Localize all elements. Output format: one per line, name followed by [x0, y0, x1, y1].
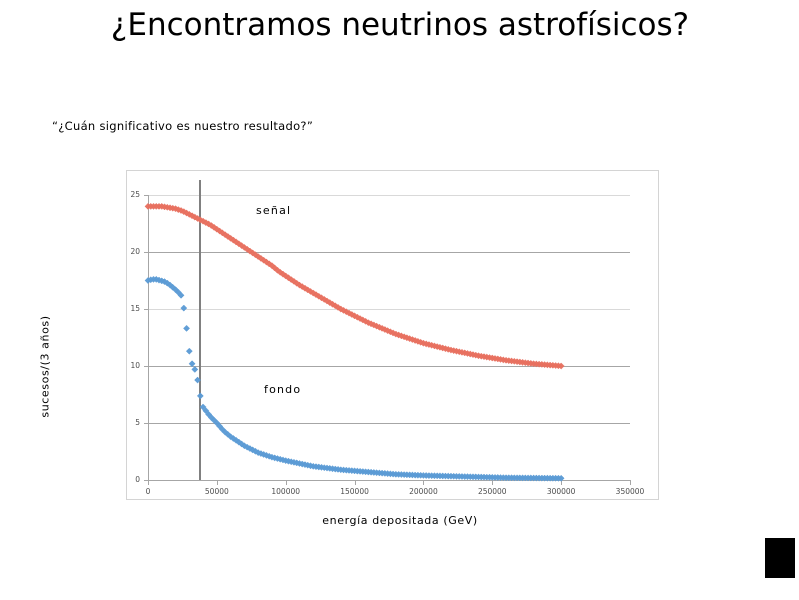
x-tick-label: 100000 [256, 487, 316, 496]
x-tick-250000 [492, 480, 493, 485]
y-tick-20 [144, 252, 149, 253]
x-tick-300000 [561, 480, 562, 485]
gridline-y-0 [148, 480, 630, 481]
footer-black-block [765, 538, 795, 578]
y-tick-label: 0 [118, 475, 140, 484]
x-tick-100000 [286, 480, 287, 485]
x-tick-label: 0 [118, 487, 178, 496]
y-tick-5 [144, 423, 149, 424]
gridline-y-20 [148, 252, 630, 253]
x-tick-200000 [423, 480, 424, 485]
y-tick-25 [144, 195, 149, 196]
x-tick-350000 [630, 480, 631, 485]
x-tick-label: 200000 [393, 487, 453, 496]
x-tick-50000 [217, 480, 218, 485]
threshold-vertical-line [199, 180, 201, 480]
y-tick-10 [144, 366, 149, 367]
y-tick-label: 10 [118, 361, 140, 370]
x-tick-label: 50000 [187, 487, 247, 496]
y-tick-label: 15 [118, 304, 140, 313]
x-tick-label: 350000 [600, 487, 660, 496]
y-axis-title: sucesos/(3 años) [39, 297, 52, 437]
gridline-y-10 [148, 366, 630, 367]
x-tick-150000 [355, 480, 356, 485]
y-tick-label: 20 [118, 247, 140, 256]
series-label-senal: señal [256, 204, 291, 217]
y-axis-line [148, 195, 149, 480]
y-tick-label: 25 [118, 190, 140, 199]
page-title: ¿Encontramos neutrinos astrofísicos? [100, 6, 700, 44]
gridline-y-5 [148, 423, 630, 424]
y-tick-label: 5 [118, 418, 140, 427]
slide-canvas: ¿Encontramos neutrinos astrofísicos? “¿C… [0, 0, 799, 600]
x-tick-label: 150000 [325, 487, 385, 496]
x-tick-label: 300000 [531, 487, 591, 496]
subtitle-quote: “¿Cuán significativo es nuestro resultad… [52, 119, 313, 133]
chart-frame [126, 170, 659, 500]
y-tick-15 [144, 309, 149, 310]
x-tick-label: 250000 [462, 487, 522, 496]
gridline-y-15 [148, 309, 630, 310]
gridline-y-25 [148, 195, 630, 196]
x-tick-0 [148, 480, 149, 485]
x-axis-title: energía depositada (GeV) [250, 514, 550, 527]
series-label-fondo: fondo [264, 383, 301, 396]
